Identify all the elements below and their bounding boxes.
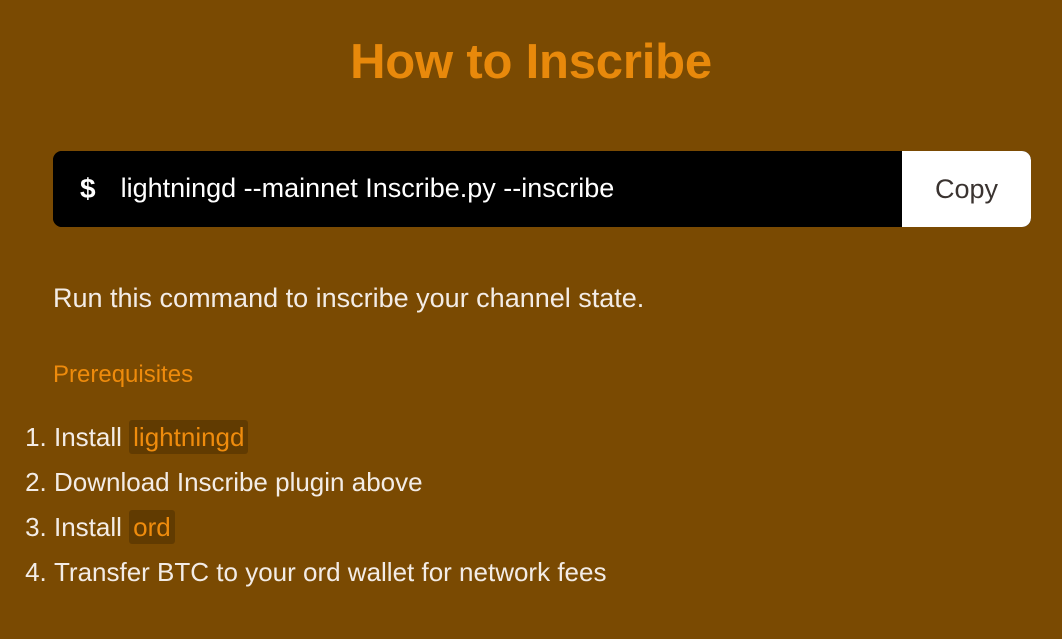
list-item-lead: Install: [54, 512, 129, 542]
dollar-prompt-icon: $: [80, 175, 96, 203]
list-item-lead: Install: [54, 422, 129, 452]
command-description: Run this command to inscribe your channe…: [53, 279, 644, 317]
copy-button[interactable]: Copy: [902, 151, 1031, 227]
list-item-lead: Download Inscribe plugin above: [54, 467, 423, 497]
list-item-lead: Transfer BTC to your ord wallet for netw…: [54, 557, 606, 587]
list-item: Download Inscribe plugin above: [54, 460, 606, 505]
command-field[interactable]: $ lightningd --mainnet Inscribe.py --ins…: [53, 151, 902, 227]
command-bar: $ lightningd --mainnet Inscribe.py --ins…: [53, 151, 1031, 227]
list-item: Install lightningd: [54, 415, 606, 460]
list-item: Install ord: [54, 505, 606, 550]
inline-code-token: lightningd: [129, 420, 248, 454]
list-item: Transfer BTC to your ord wallet for netw…: [54, 550, 606, 595]
page-title: How to Inscribe: [0, 30, 1062, 94]
command-text: lightningd --mainnet Inscribe.py --inscr…: [121, 174, 615, 204]
prerequisites-heading: Prerequisites: [53, 358, 193, 392]
how-to-inscribe-page: { "page": { "title": "How to Inscribe", …: [0, 0, 1062, 639]
prerequisites-list: Install lightningd Download Inscribe plu…: [22, 415, 606, 595]
inline-code-token: ord: [129, 510, 175, 544]
